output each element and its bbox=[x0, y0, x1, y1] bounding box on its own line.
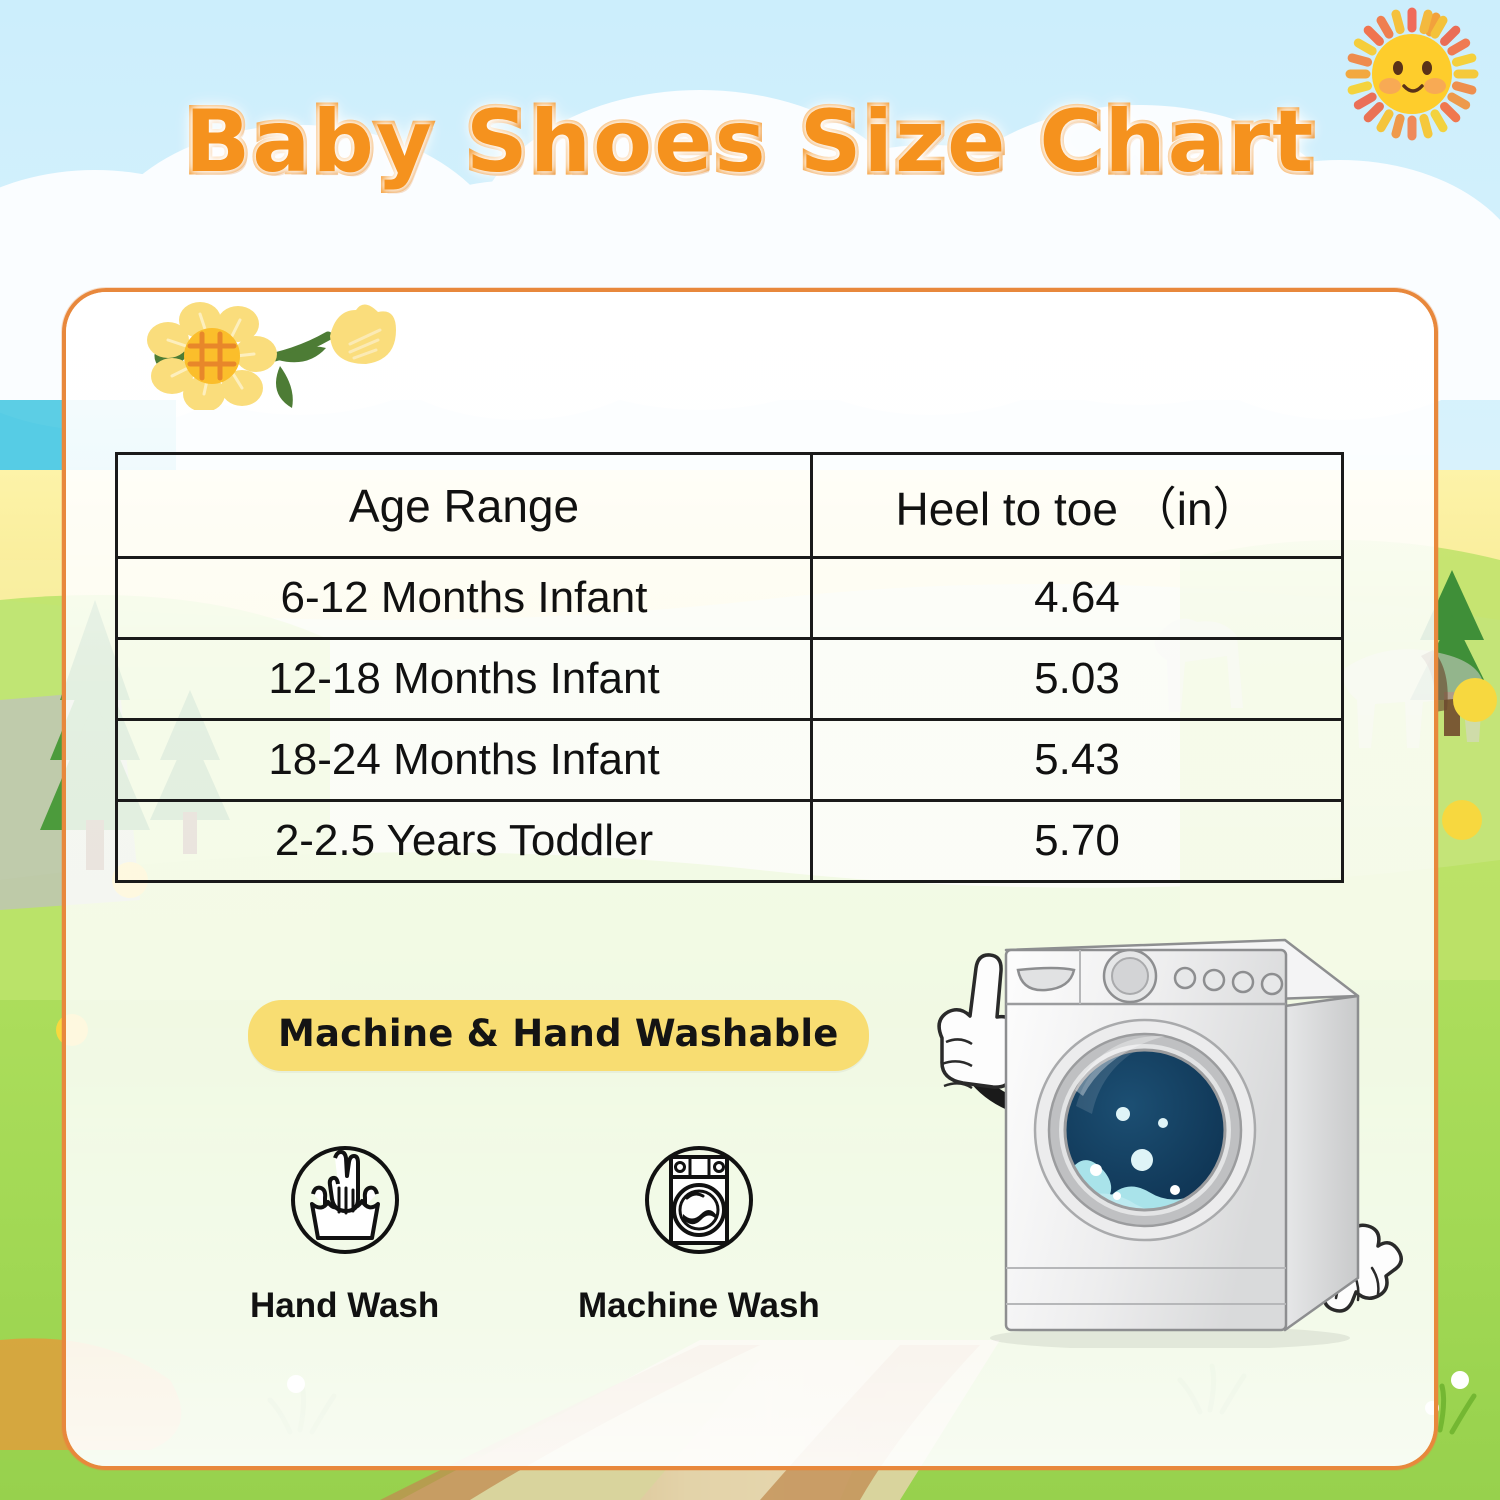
tulip-bud bbox=[330, 304, 396, 364]
table-row: 18-24 Months Infant 5.43 bbox=[117, 720, 1343, 801]
flower-icon bbox=[128, 300, 418, 410]
washing-machine-mascot bbox=[880, 918, 1410, 1348]
page-title: Baby Shoes Size Chart bbox=[0, 92, 1500, 192]
sun-icon bbox=[1332, 2, 1492, 152]
table-header-row: Age Range Heel to toe （in） bbox=[117, 454, 1343, 558]
washable-banner: Machine & Hand Washable bbox=[248, 1000, 869, 1071]
machine-wash-icon bbox=[633, 1140, 765, 1272]
care-item-machine-wash: Machine Wash bbox=[578, 1140, 820, 1326]
table-row: 12-18 Months Infant 5.03 bbox=[117, 639, 1343, 720]
cell-heel-to-toe: 5.43 bbox=[812, 720, 1343, 801]
table-row: 2-2.5 Years Toddler 5.70 bbox=[117, 801, 1343, 882]
cell-age-range: 2-2.5 Years Toddler bbox=[117, 801, 812, 882]
cell-age-range: 6-12 Months Infant bbox=[117, 558, 812, 639]
care-label-hand-wash: Hand Wash bbox=[250, 1286, 439, 1326]
cell-heel-to-toe: 4.64 bbox=[812, 558, 1343, 639]
daisy bbox=[147, 302, 277, 410]
cell-age-range: 18-24 Months Infant bbox=[117, 720, 812, 801]
column-header-heel-to-toe: Heel to toe （in） bbox=[812, 454, 1343, 558]
hand-wash-icon bbox=[279, 1140, 411, 1272]
column-header-age-range: Age Range bbox=[117, 454, 812, 558]
care-label-machine-wash: Machine Wash bbox=[578, 1286, 820, 1326]
care-item-hand-wash: Hand Wash bbox=[250, 1140, 439, 1326]
size-chart-table: Age Range Heel to toe （in） 6-12 Months I… bbox=[115, 452, 1344, 883]
cell-heel-to-toe: 5.70 bbox=[812, 801, 1343, 882]
cell-age-range: 12-18 Months Infant bbox=[117, 639, 812, 720]
table-row: 6-12 Months Infant 4.64 bbox=[117, 558, 1343, 639]
cell-heel-to-toe: 5.03 bbox=[812, 639, 1343, 720]
